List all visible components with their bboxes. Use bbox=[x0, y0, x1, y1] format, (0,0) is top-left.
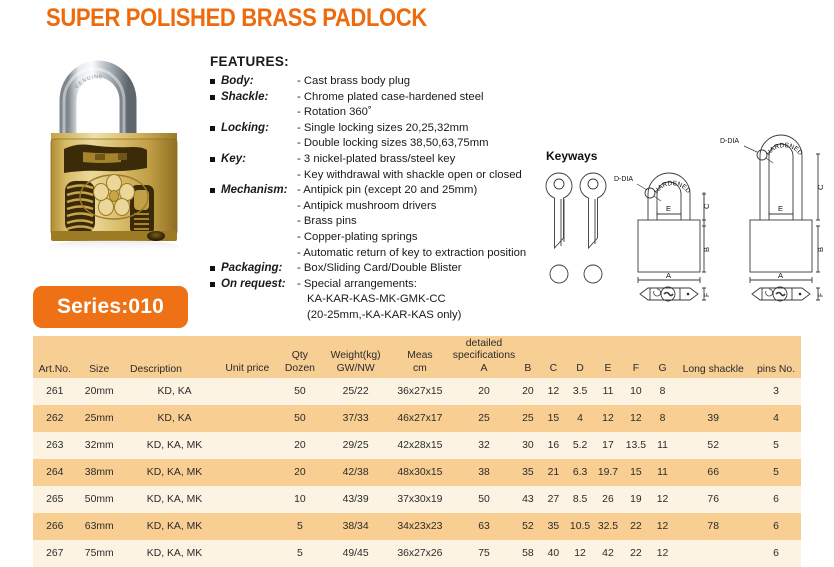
feature-row-on-request-2: KA-KAR-KAS-MK-GMK-CC bbox=[210, 292, 540, 308]
cell-qty: 50 bbox=[276, 405, 325, 432]
th-a-letter: A bbox=[453, 363, 515, 375]
cell-g: 8 bbox=[650, 405, 675, 432]
cell-qty: 10 bbox=[276, 486, 325, 513]
cell-c: 27 bbox=[541, 486, 566, 513]
feature-label: Body: bbox=[221, 74, 297, 90]
cell-description: KD, KA, MK bbox=[122, 486, 219, 513]
cell-size: 25mm bbox=[77, 405, 122, 432]
cell-long-shackle bbox=[675, 540, 751, 567]
cell-pins-no: 6 bbox=[751, 540, 801, 567]
cell-qty: 5 bbox=[276, 513, 325, 540]
feature-row-key: Key: - 3 nickel-plated brass/steel key bbox=[210, 152, 540, 168]
cell-description: KD, KA bbox=[122, 378, 219, 405]
cell-qty: 20 bbox=[276, 459, 325, 486]
feature-value: - Key withdrawal with shackle open or cl… bbox=[297, 168, 522, 184]
cell-b: 43 bbox=[515, 486, 540, 513]
feature-value: - 3 nickel-plated brass/steel key bbox=[297, 152, 455, 168]
cell-c: 15 bbox=[541, 405, 566, 432]
feature-row-locking-2: - Double locking sizes 38,50,63,75mm bbox=[210, 136, 540, 152]
cell-weight: 49/45 bbox=[324, 540, 387, 567]
feature-row-on-request-3: (20-25mm,-KA-KAR-KAS only) bbox=[210, 308, 540, 324]
cell-b: 52 bbox=[515, 513, 540, 540]
th-weight-line1: Weight(kg) bbox=[324, 350, 387, 362]
d-dia-label-standard: D-DIA bbox=[614, 176, 633, 183]
th-unit-price: Unit price bbox=[219, 336, 275, 378]
cell-weight: 42/38 bbox=[324, 459, 387, 486]
cell-f: 22 bbox=[622, 513, 650, 540]
cell-meas: 46x27x17 bbox=[387, 405, 453, 432]
cell-b: 35 bbox=[515, 459, 540, 486]
th-c-letter: C bbox=[541, 363, 566, 375]
dim-e-long: E bbox=[778, 204, 783, 213]
cell-meas: 36x27x15 bbox=[387, 378, 453, 405]
catalog-page: SUPER POLISHED BRASS PADLOCK bbox=[0, 0, 834, 519]
cell-e: 26 bbox=[594, 486, 622, 513]
cell-b: 30 bbox=[515, 432, 540, 459]
cell-long-shackle: 39 bbox=[675, 405, 751, 432]
cell-d: 8.5 bbox=[566, 486, 594, 513]
th-detailed-specifications: detailed specifications bbox=[453, 338, 515, 363]
keyways-drawing bbox=[546, 173, 606, 283]
cell-meas: 36x27x26 bbox=[387, 540, 453, 567]
feature-row-mechanism: Mechanism: - Antipick pin (except 20 and… bbox=[210, 183, 540, 199]
cell-e: 11 bbox=[594, 378, 622, 405]
table-body: 261 20mm KD, KA 50 25/22 36x27x15 20 20 … bbox=[33, 378, 801, 567]
cell-art-no: 262 bbox=[33, 405, 77, 432]
cell-c: 40 bbox=[541, 540, 566, 567]
dim-f-long: F bbox=[818, 293, 825, 297]
cell-a: 20 bbox=[453, 378, 515, 405]
cell-d: 5.2 bbox=[566, 432, 594, 459]
cell-e: 32.5 bbox=[594, 513, 622, 540]
cell-meas: 42x28x15 bbox=[387, 432, 453, 459]
cell-b: 20 bbox=[515, 378, 540, 405]
cell-c: 16 bbox=[541, 432, 566, 459]
feature-row-mechanism-2: - Antipick mushroom drivers bbox=[210, 199, 540, 215]
th-e-letter: E bbox=[594, 363, 622, 375]
dim-c-standard: C bbox=[702, 203, 711, 209]
th-b-letter: B bbox=[515, 363, 540, 375]
cell-g: 8 bbox=[650, 378, 675, 405]
th-spec-d: D bbox=[566, 336, 594, 378]
square-bullet-icon bbox=[210, 282, 215, 287]
cell-meas: 34x23x23 bbox=[387, 513, 453, 540]
feature-value: - Box/Sliding Card/Double Blister bbox=[297, 261, 462, 277]
cell-unit-price bbox=[219, 432, 275, 459]
feature-row-packaging: Packaging: - Box/Sliding Card/Double Bli… bbox=[210, 261, 540, 277]
th-spec-e: E bbox=[594, 336, 622, 378]
th-unit-price-line1: Unit price bbox=[219, 363, 275, 375]
th-qty-line1: Qty bbox=[276, 350, 325, 362]
cell-art-no: 264 bbox=[33, 459, 77, 486]
cell-qty: 20 bbox=[276, 432, 325, 459]
cell-long-shackle: 66 bbox=[675, 459, 751, 486]
cell-weight: 37/33 bbox=[324, 405, 387, 432]
feature-value: - Rotation 360˚ bbox=[297, 105, 372, 121]
cell-c: 35 bbox=[541, 513, 566, 540]
table-row: 264 38mm KD, KA, MK 20 42/38 48x30x15 38… bbox=[33, 459, 801, 486]
cell-e: 19.7 bbox=[594, 459, 622, 486]
dim-a-standard: A bbox=[666, 271, 671, 280]
features-heading: FEATURES: bbox=[210, 54, 540, 69]
cell-description: KD, KA, MK bbox=[122, 540, 219, 567]
cell-a: 32 bbox=[453, 432, 515, 459]
th-description: Description bbox=[122, 336, 219, 378]
cell-size: 32mm bbox=[77, 432, 122, 459]
dim-c-long: C bbox=[816, 184, 825, 190]
feature-value: - Brass pins bbox=[297, 214, 357, 230]
cell-size: 75mm bbox=[77, 540, 122, 567]
th-qty: Qty Dozen bbox=[276, 336, 325, 378]
cell-b: 58 bbox=[515, 540, 540, 567]
th-long-shackle: Long shackle bbox=[675, 336, 751, 378]
dim-f-standard: F bbox=[704, 293, 711, 297]
th-art-no: Art.No. bbox=[33, 336, 77, 378]
cell-e: 17 bbox=[594, 432, 622, 459]
cell-f: 19 bbox=[622, 486, 650, 513]
cell-f: 12 bbox=[622, 405, 650, 432]
feature-value: - Chrome plated case-hardened steel bbox=[297, 90, 484, 106]
cell-pins-no: 6 bbox=[751, 486, 801, 513]
feature-row-on-request: On request: - Special arrangements: bbox=[210, 277, 540, 293]
cell-size: 38mm bbox=[77, 459, 122, 486]
cell-pins-no: 5 bbox=[751, 459, 801, 486]
th-meas-line2: cm bbox=[387, 363, 453, 375]
th-d-letter: D bbox=[566, 363, 594, 375]
cell-description: KD, KA bbox=[122, 405, 219, 432]
table-head: Art.No. Size Description Unit price Qty … bbox=[33, 336, 801, 378]
feature-row-key-2: - Key withdrawal with shackle open or cl… bbox=[210, 168, 540, 184]
technical-drawing-group: Keyways D-DIA D-DIA HARDENED HARDENED C … bbox=[528, 108, 834, 320]
cell-c: 21 bbox=[541, 459, 566, 486]
padlock-front-view-standard bbox=[637, 173, 706, 301]
th-g-letter: G bbox=[650, 363, 675, 375]
cell-long-shackle: 78 bbox=[675, 513, 751, 540]
cell-long-shackle: 76 bbox=[675, 486, 751, 513]
cell-art-no: 263 bbox=[33, 432, 77, 459]
table-row: 265 50mm KD, KA, MK 10 43/39 37x30x19 50… bbox=[33, 486, 801, 513]
square-bullet-icon bbox=[210, 188, 215, 193]
cell-f: 22 bbox=[622, 540, 650, 567]
feature-value: - Antipick mushroom drivers bbox=[297, 199, 436, 215]
series-badge: Series:010 bbox=[33, 286, 188, 328]
feature-value: KA-KAR-KAS-MK-GMK-CC bbox=[297, 292, 446, 308]
cell-e: 12 bbox=[594, 405, 622, 432]
cell-art-no: 266 bbox=[33, 513, 77, 540]
cell-art-no: 261 bbox=[33, 378, 77, 405]
table-row: 263 32mm KD, KA, MK 20 29/25 42x28x15 32… bbox=[33, 432, 801, 459]
th-f-letter: F bbox=[622, 363, 650, 375]
th-qty-line2: Dozen bbox=[276, 363, 325, 375]
table-row: 266 63mm KD, KA, MK 5 38/34 34x23x23 63 … bbox=[33, 513, 801, 540]
feature-value: - Automatic return of key to extraction … bbox=[297, 246, 526, 262]
cell-art-no: 265 bbox=[33, 486, 77, 513]
feature-row-shackle-2: - Rotation 360˚ bbox=[210, 105, 540, 121]
cell-description: KD, KA, MK bbox=[122, 513, 219, 540]
cell-description: KD, KA, MK bbox=[122, 432, 219, 459]
cell-g: 12 bbox=[650, 540, 675, 567]
cell-weight: 38/34 bbox=[324, 513, 387, 540]
th-meas-line1: Meas bbox=[387, 350, 453, 362]
cell-weight: 25/22 bbox=[324, 378, 387, 405]
feature-value: - Double locking sizes 38,50,63,75mm bbox=[297, 136, 489, 152]
cell-d: 3.5 bbox=[566, 378, 594, 405]
feature-label: Key: bbox=[221, 152, 297, 168]
th-weight-line2: GW/NW bbox=[324, 363, 387, 375]
cell-meas: 37x30x19 bbox=[387, 486, 453, 513]
cell-size: 63mm bbox=[77, 513, 122, 540]
th-spec-f: F bbox=[622, 336, 650, 378]
features-section: FEATURES: Body: - Cast brass body plug S… bbox=[210, 54, 540, 324]
cell-unit-price bbox=[219, 486, 275, 513]
th-spec-g: G bbox=[650, 336, 675, 378]
dim-b-standard: B bbox=[702, 247, 711, 252]
feature-label: Locking: bbox=[221, 121, 297, 137]
cell-description: KD, KA, MK bbox=[122, 459, 219, 486]
cell-unit-price bbox=[219, 540, 275, 567]
cell-qty: 5 bbox=[276, 540, 325, 567]
cell-g: 11 bbox=[650, 432, 675, 459]
cell-unit-price bbox=[219, 405, 275, 432]
feature-row-shackle: Shackle: - Chrome plated case-hardened s… bbox=[210, 90, 540, 106]
cell-f: 10 bbox=[622, 378, 650, 405]
square-bullet-icon bbox=[210, 79, 215, 84]
cell-a: 50 bbox=[453, 486, 515, 513]
cell-f: 15 bbox=[622, 459, 650, 486]
square-bullet-icon bbox=[210, 126, 215, 131]
cell-weight: 29/25 bbox=[324, 432, 387, 459]
cell-b: 25 bbox=[515, 405, 540, 432]
feature-row-body: Body: - Cast brass body plug bbox=[210, 74, 540, 90]
cell-weight: 43/39 bbox=[324, 486, 387, 513]
table-row: 262 25mm KD, KA 50 37/33 46x27x17 25 25 … bbox=[33, 405, 801, 432]
table-row: 267 75mm KD, KA, MK 5 49/45 36x27x26 75 … bbox=[33, 540, 801, 567]
cell-unit-price bbox=[219, 459, 275, 486]
feature-label: Shackle: bbox=[221, 90, 297, 106]
table-row: 261 20mm KD, KA 50 25/22 36x27x15 20 20 … bbox=[33, 378, 801, 405]
cell-unit-price bbox=[219, 378, 275, 405]
cell-d: 12 bbox=[566, 540, 594, 567]
feature-row-mechanism-4: - Copper-plating springs bbox=[210, 230, 540, 246]
cell-e: 42 bbox=[594, 540, 622, 567]
specifications-table: Art.No. Size Description Unit price Qty … bbox=[33, 336, 801, 567]
cell-size: 50mm bbox=[77, 486, 122, 513]
feature-label: On request: bbox=[221, 277, 297, 293]
th-spec-a: detailed specifications A bbox=[453, 336, 515, 378]
dim-a-long: A bbox=[778, 271, 783, 280]
cell-meas: 48x30x15 bbox=[387, 459, 453, 486]
feature-row-mechanism-3: - Brass pins bbox=[210, 214, 540, 230]
feature-label: Packaging: bbox=[221, 261, 297, 277]
square-bullet-icon bbox=[210, 157, 215, 162]
page-title: SUPER POLISHED BRASS PADLOCK bbox=[46, 4, 427, 33]
cell-long-shackle bbox=[675, 378, 751, 405]
feature-value: - Special arrangements: bbox=[297, 277, 417, 293]
feature-value: (20-25mm,-KA-KAR-KAS only) bbox=[297, 308, 461, 324]
cell-pins-no: 5 bbox=[751, 432, 801, 459]
feature-row-locking: Locking: - Single locking sizes 20,25,32… bbox=[210, 121, 540, 137]
feature-value: - Cast brass body plug bbox=[297, 74, 410, 90]
d-dia-label-long: D-DIA bbox=[720, 138, 739, 145]
keyways-label: Keyways bbox=[546, 149, 598, 163]
feature-value: - Antipick pin (except 20 and 25mm) bbox=[297, 183, 477, 199]
cell-pins-no: 6 bbox=[751, 513, 801, 540]
padlock-product-photo: GENUINE bbox=[38, 57, 190, 262]
th-spec-b: B bbox=[515, 336, 540, 378]
cell-c: 12 bbox=[541, 378, 566, 405]
table-header-row: Art.No. Size Description Unit price Qty … bbox=[33, 336, 801, 378]
th-weight: Weight(kg) GW/NW bbox=[324, 336, 387, 378]
cell-art-no: 267 bbox=[33, 540, 77, 567]
feature-row-mechanism-5: - Automatic return of key to extraction … bbox=[210, 246, 540, 262]
cell-unit-price bbox=[219, 513, 275, 540]
cell-f: 13.5 bbox=[622, 432, 650, 459]
cell-g: 11 bbox=[650, 459, 675, 486]
square-bullet-icon bbox=[210, 95, 215, 100]
th-pins-no: pins No. bbox=[751, 336, 801, 378]
cell-qty: 50 bbox=[276, 378, 325, 405]
th-spec-c: C bbox=[541, 336, 566, 378]
cell-a: 63 bbox=[453, 513, 515, 540]
cell-d: 10.5 bbox=[566, 513, 594, 540]
dim-e-standard: E bbox=[666, 204, 671, 213]
cell-a: 25 bbox=[453, 405, 515, 432]
cell-a: 75 bbox=[453, 540, 515, 567]
feature-value: - Single locking sizes 20,25,32mm bbox=[297, 121, 468, 137]
cell-pins-no: 3 bbox=[751, 378, 801, 405]
dim-b-long: B bbox=[816, 247, 825, 252]
th-size: Size bbox=[77, 336, 122, 378]
th-meas: Meas cm bbox=[387, 336, 453, 378]
cell-g: 12 bbox=[650, 486, 675, 513]
cell-d: 6.3 bbox=[566, 459, 594, 486]
feature-label: Mechanism: bbox=[221, 183, 297, 199]
cell-size: 20mm bbox=[77, 378, 122, 405]
cell-g: 12 bbox=[650, 513, 675, 540]
square-bullet-icon bbox=[210, 266, 215, 271]
cell-a: 38 bbox=[453, 459, 515, 486]
cell-d: 4 bbox=[566, 405, 594, 432]
feature-value: - Copper-plating springs bbox=[297, 230, 418, 246]
cell-long-shackle: 52 bbox=[675, 432, 751, 459]
cell-pins-no: 4 bbox=[751, 405, 801, 432]
